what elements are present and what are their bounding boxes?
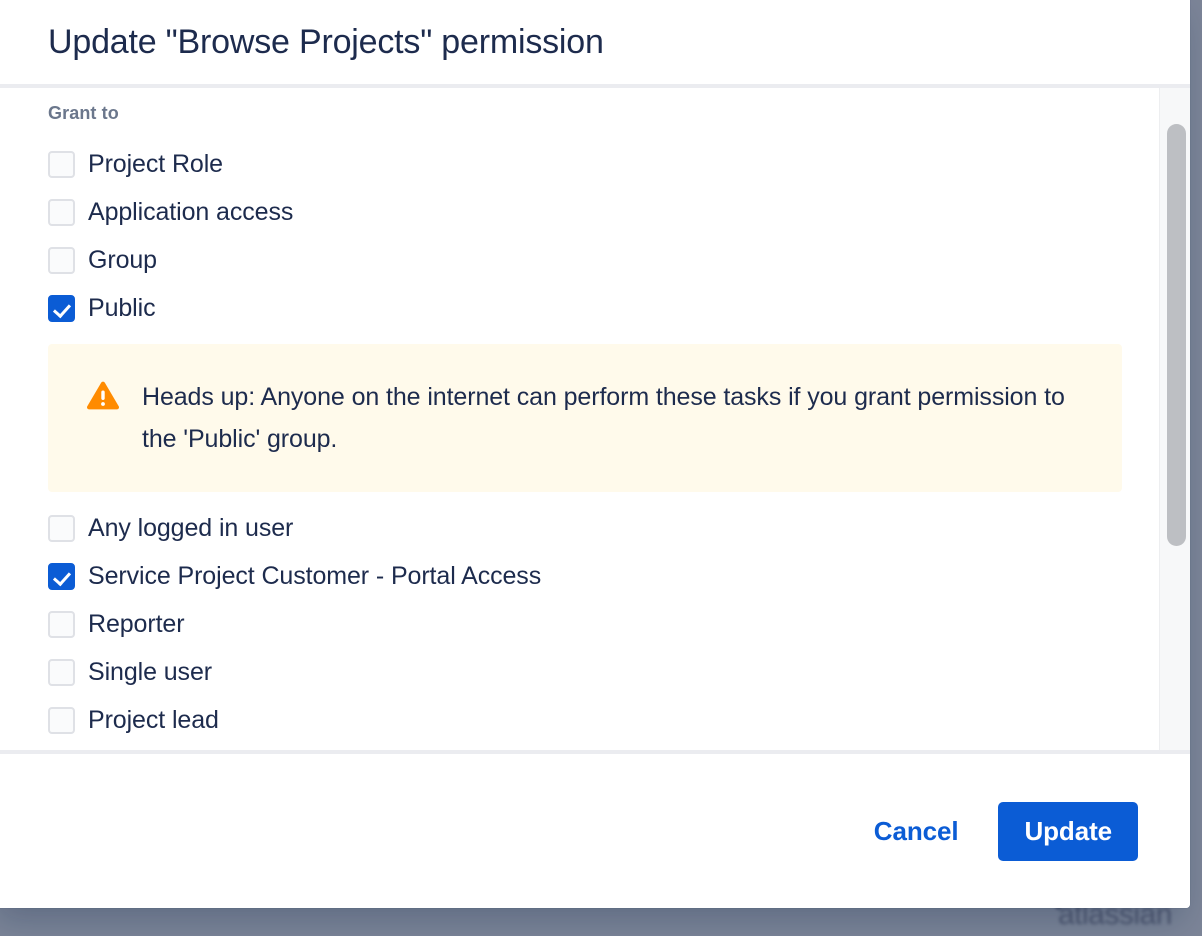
checkbox-row-public[interactable]: Public [48,284,1190,332]
grant-to-label: Grant to [48,102,1190,124]
checkbox-label: Group [88,245,157,275]
dialog-body: Grant to Project Role Application access… [0,88,1190,750]
checkbox-row-group[interactable]: Group [48,236,1190,284]
dialog-title: Update "Browse Projects" permission [48,22,1190,62]
dialog-header: Update "Browse Projects" permission [0,0,1190,84]
checkbox-project-lead[interactable] [48,707,75,734]
checkbox-row-application-access[interactable]: Application access [48,188,1190,236]
checkbox-row-any-logged-in-user[interactable]: Any logged in user [48,504,1190,552]
dialog-scrollbar-track[interactable] [1159,88,1190,750]
warning-triangle-icon [86,378,120,412]
dialog-scrollbar-thumb[interactable] [1167,124,1186,546]
checkbox-project-role[interactable] [48,151,75,178]
checkbox-row-single-user[interactable]: Single user [48,648,1190,696]
checkbox-reporter[interactable] [48,611,75,638]
checkbox-label: Any logged in user [88,513,293,543]
update-button[interactable]: Update [998,802,1138,861]
checkbox-label: Public [88,293,156,323]
checkbox-group[interactable] [48,247,75,274]
checkbox-label: Reporter [88,609,184,639]
warning-message: Heads up: Anyone on the internet can per… [142,376,1072,460]
checkbox-row-project-lead[interactable]: Project lead [48,696,1190,744]
checkbox-row-project-role[interactable]: Project Role [48,140,1190,188]
checkbox-application-access[interactable] [48,199,75,226]
checkbox-single-user[interactable] [48,659,75,686]
checkbox-row-reporter[interactable]: Reporter [48,600,1190,648]
checkbox-service-project-customer[interactable] [48,563,75,590]
checkbox-label: Project Role [88,149,223,179]
checkbox-label: Service Project Customer - Portal Access [88,561,541,591]
checkbox-public[interactable] [48,295,75,322]
checkbox-row-service-project-customer[interactable]: Service Project Customer - Portal Access [48,552,1190,600]
checkbox-label: Project lead [88,705,219,735]
cancel-button[interactable]: Cancel [860,806,973,857]
public-warning-banner: Heads up: Anyone on the internet can per… [48,344,1122,492]
dialog-body-wrapper: Grant to Project Role Application access… [0,88,1190,750]
checkbox-label: Single user [88,657,212,687]
dialog-footer: Cancel Update [0,754,1190,908]
checkbox-label: Application access [88,197,293,227]
update-permission-dialog: Update "Browse Projects" permission Gran… [0,0,1190,908]
checkbox-any-logged-in-user[interactable] [48,515,75,542]
